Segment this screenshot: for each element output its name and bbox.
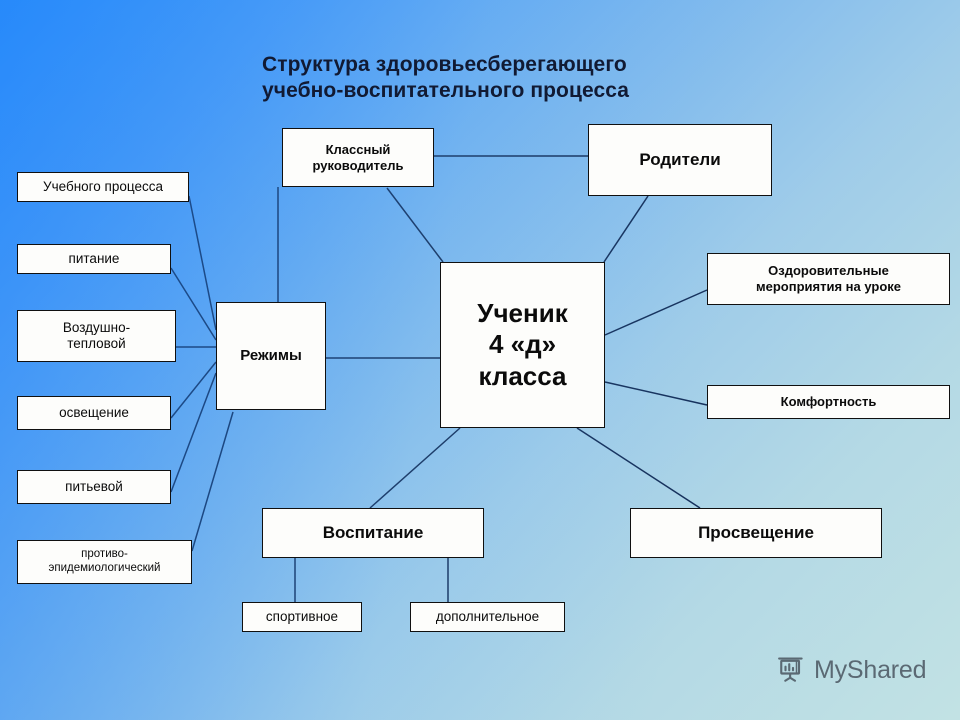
slide-canvas: Структура здоровьесберегающего учебно-во… (0, 0, 960, 720)
node-label-line-1: Ученик (472, 298, 572, 329)
node-label: Оздоровительные мероприятия на уроке (751, 263, 906, 294)
node-label: спортивное (261, 609, 343, 625)
edge-protivoepid-rezhimy (192, 412, 233, 551)
edge-uchebnogo-processa-rezhimy (189, 196, 216, 330)
node-uchebnogo-processa[interactable]: Учебного процесса (17, 172, 189, 202)
presentation-chart-icon (776, 655, 806, 685)
node-label: Комфортность (776, 394, 882, 410)
node-label-line-3: класса (473, 361, 571, 392)
edge-uchenik-ozdorovitelnye (605, 290, 707, 335)
slide-title: Структура здоровьесберегающего учебно-во… (262, 52, 732, 105)
node-sportivnoe[interactable]: спортивное (242, 602, 362, 632)
node-rezhimy[interactable]: Режимы (216, 302, 326, 410)
node-label: Учебного процесса (38, 179, 168, 195)
myshared-watermark: MyShared (776, 655, 926, 685)
node-dopolnitelnoe[interactable]: дополнительное (410, 602, 565, 632)
slide-title-line-2: учебно-воспитательного процесса (262, 78, 732, 104)
node-label: дополнительное (431, 609, 544, 625)
node-label: освещение (54, 405, 134, 421)
edge-uchenik-komfortnost (605, 382, 707, 405)
node-komfortnost[interactable]: Комфортность (707, 385, 950, 419)
node-prosveshchenie[interactable]: Просвещение (630, 508, 882, 558)
node-label: Классный руководитель (308, 142, 409, 173)
node-protivoepidemiologicheskiy[interactable]: противо- эпидемиологический (17, 540, 192, 584)
edge-roditeli-uchenik (604, 196, 648, 262)
edge-uchenik-prosveshchenie (577, 428, 700, 508)
node-label-line-2: 4 «д» (484, 329, 561, 360)
watermark-label: MyShared (814, 656, 926, 685)
node-vozdushno-teplovoy[interactable]: Воздушно- тепловой (17, 310, 176, 362)
node-osveshchenie[interactable]: освещение (17, 396, 171, 430)
node-vospitanie[interactable]: Воспитание (262, 508, 484, 558)
node-label: противо- эпидемиологический (44, 548, 166, 576)
node-ozdorovitelnye-meropriyatiya[interactable]: Оздоровительные мероприятия на уроке (707, 253, 950, 305)
node-label: Воспитание (318, 523, 429, 543)
node-label: питьевой (60, 479, 128, 495)
node-label: Воздушно- тепловой (58, 320, 135, 352)
node-pitevoy[interactable]: питьевой (17, 470, 171, 504)
node-klassnyy-rukovoditel[interactable]: Классный руководитель (282, 128, 434, 187)
edge-pitanie-rezhimy (171, 268, 216, 340)
node-label: питание (64, 251, 125, 267)
node-roditeli[interactable]: Родители (588, 124, 772, 196)
node-label: Просвещение (693, 523, 819, 543)
edge-klassnyy-uchenik (387, 188, 443, 262)
node-pitanie[interactable]: питание (17, 244, 171, 274)
node-uchenik-4d-klassa[interactable]: Ученик 4 «д» класса (440, 262, 605, 428)
slide-title-line-1: Структура здоровьесберегающего (262, 52, 732, 78)
node-label: Родители (634, 150, 725, 170)
node-label: Режимы (235, 347, 307, 365)
edge-uchenik-vospitanie (370, 428, 460, 508)
